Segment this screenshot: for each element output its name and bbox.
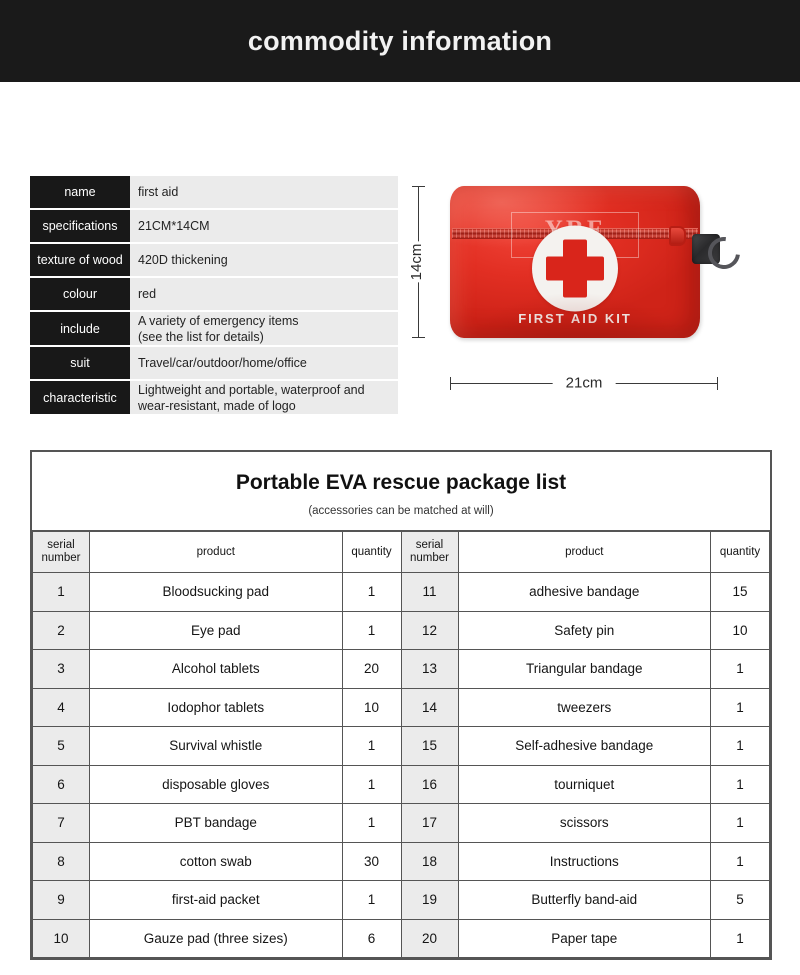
cell-serial-number: 1	[33, 573, 90, 612]
cell-serial-number: 9	[33, 881, 90, 920]
dimension-width-label: 21cm	[553, 375, 616, 392]
table-row: 4Iodophor tablets1014tweezers1	[33, 688, 770, 727]
cell-quantity: 6	[342, 919, 401, 958]
spec-row: suitTravel/car/outdoor/home/office	[30, 347, 398, 379]
cell-serial-number: 7	[33, 804, 90, 843]
spec-row: namefirst aid	[30, 176, 398, 208]
spec-row: texture of wood420D thickening	[30, 244, 398, 276]
cell-serial-number: 3	[33, 650, 90, 689]
dimension-height-label: 14cm	[405, 242, 428, 283]
cell-quantity: 1	[711, 765, 770, 804]
cell-serial-number: 20	[401, 919, 458, 958]
carabiner-clip-icon	[692, 234, 720, 264]
cell-quantity: 15	[711, 573, 770, 612]
table-row: 5Survival whistle115Self-adhesive bandag…	[33, 727, 770, 766]
cell-product: Eye pad	[90, 611, 343, 650]
spec-label: name	[30, 176, 130, 208]
zipper-pull-icon	[669, 226, 686, 246]
cell-serial-number: 5	[33, 727, 90, 766]
cell-product: Self-adhesive bandage	[458, 727, 711, 766]
header-serial-number-right: serial number	[401, 532, 458, 573]
cell-quantity: 1	[342, 765, 401, 804]
package-list-title: Portable EVA rescue package list	[32, 471, 770, 495]
spec-label: specifications	[30, 210, 130, 242]
header-quantity-right: quantity	[711, 532, 770, 573]
cell-product: Triangular bandage	[458, 650, 711, 689]
cell-product: disposable gloves	[90, 765, 343, 804]
page-title: commodity information	[248, 26, 552, 57]
cell-quantity: 1	[342, 611, 401, 650]
cell-serial-number: 17	[401, 804, 458, 843]
cell-serial-number: 4	[33, 688, 90, 727]
cell-product: Paper tape	[458, 919, 711, 958]
table-row: 7PBT bandage117scissors1	[33, 804, 770, 843]
medical-cross-icon	[532, 225, 618, 311]
package-list-subtitle: (accessories can be matched at will)	[32, 505, 770, 517]
cell-serial-number: 19	[401, 881, 458, 920]
cell-serial-number: 14	[401, 688, 458, 727]
cell-product: scissors	[458, 804, 711, 843]
cell-product: Butterfly band-aid	[458, 881, 711, 920]
specification-table: namefirst aidspecifications21CM*14CMtext…	[30, 176, 398, 416]
spec-label: texture of wood	[30, 244, 130, 276]
cell-quantity: 1	[342, 573, 401, 612]
spec-value: Travel/car/outdoor/home/office	[130, 347, 398, 379]
cell-serial-number: 15	[401, 727, 458, 766]
header-serial-number-left: serial number	[33, 532, 90, 573]
table-row: 10Gauze pad (three sizes)620Paper tape1	[33, 919, 770, 958]
table-row: 9first-aid packet119Butterfly band-aid5	[33, 881, 770, 920]
spec-row: specifications21CM*14CM	[30, 210, 398, 242]
cross-horizontal-bar	[546, 256, 604, 280]
header-product-left: product	[90, 532, 343, 573]
cell-serial-number: 8	[33, 842, 90, 881]
dimension-width: 21cm	[450, 375, 718, 391]
cell-serial-number: 12	[401, 611, 458, 650]
cell-serial-number: 16	[401, 765, 458, 804]
spec-value: 21CM*14CM	[130, 210, 398, 242]
cell-product: tweezers	[458, 688, 711, 727]
first-aid-pouch: YRF www.yrftextile.com FIRST AID KIT	[450, 186, 700, 338]
cell-product: adhesive bandage	[458, 573, 711, 612]
cell-product: Iodophor tablets	[90, 688, 343, 727]
cell-quantity: 1	[711, 804, 770, 843]
cell-product: Alcohol tablets	[90, 650, 343, 689]
spec-row: colourred	[30, 278, 398, 310]
cell-quantity: 5	[711, 881, 770, 920]
pouch-label: FIRST AID KIT	[450, 311, 700, 326]
package-list: Portable EVA rescue package list (access…	[30, 450, 772, 960]
header-banner: commodity information	[0, 0, 800, 82]
cell-serial-number: 13	[401, 650, 458, 689]
spec-value: A variety of emergency items (see the li…	[130, 312, 398, 345]
cell-quantity: 10	[711, 611, 770, 650]
table-row: 2Eye pad112Safety pin10	[33, 611, 770, 650]
cell-product: tourniquet	[458, 765, 711, 804]
table-row: 8cotton swab3018Instructions1	[33, 842, 770, 881]
package-items-table: serial number product quantity serial nu…	[32, 531, 770, 958]
cell-quantity: 1	[711, 688, 770, 727]
cell-serial-number: 6	[33, 765, 90, 804]
spec-value: Lightweight and portable, waterproof and…	[130, 381, 398, 414]
cell-quantity: 1	[342, 881, 401, 920]
cell-product: Bloodsucking pad	[90, 573, 343, 612]
cell-quantity: 30	[342, 842, 401, 881]
cell-product: PBT bandage	[90, 804, 343, 843]
cell-product: Survival whistle	[90, 727, 343, 766]
cell-quantity: 20	[342, 650, 401, 689]
spec-label: colour	[30, 278, 130, 310]
dimension-height: 14cm	[412, 186, 426, 338]
spec-value: first aid	[130, 176, 398, 208]
cell-product: cotton swab	[90, 842, 343, 881]
spec-value: red	[130, 278, 398, 310]
table-header-row: serial number product quantity serial nu…	[33, 532, 770, 573]
cell-quantity: 1	[711, 727, 770, 766]
spec-row: characteristicLightweight and portable, …	[30, 381, 398, 414]
cell-quantity: 1	[342, 727, 401, 766]
cell-serial-number: 10	[33, 919, 90, 958]
package-items-head: serial number product quantity serial nu…	[33, 532, 770, 573]
cell-quantity: 1	[711, 919, 770, 958]
cell-serial-number: 2	[33, 611, 90, 650]
package-list-header: Portable EVA rescue package list (access…	[32, 452, 770, 531]
cell-product: Gauze pad (three sizes)	[90, 919, 343, 958]
cell-quantity: 1	[342, 804, 401, 843]
cell-product: first-aid packet	[90, 881, 343, 920]
table-row: 6disposable gloves116tourniquet1	[33, 765, 770, 804]
spec-row: includeA variety of emergency items (see…	[30, 312, 398, 345]
header-product-right: product	[458, 532, 711, 573]
cell-serial-number: 18	[401, 842, 458, 881]
cell-quantity: 1	[711, 650, 770, 689]
spec-label: include	[30, 312, 130, 345]
package-items-body: 1Bloodsucking pad111adhesive bandage152E…	[33, 573, 770, 958]
header-quantity-left: quantity	[342, 532, 401, 573]
table-row: 1Bloodsucking pad111adhesive bandage15	[33, 573, 770, 612]
spec-value: 420D thickening	[130, 244, 398, 276]
cell-product: Safety pin	[458, 611, 711, 650]
spec-label: characteristic	[30, 381, 130, 414]
table-row: 3Alcohol tablets2013Triangular bandage1	[33, 650, 770, 689]
cell-serial-number: 11	[401, 573, 458, 612]
dimension-width-cap-right	[717, 377, 718, 390]
product-photo: 14cm YRF www.yrftextile.com FIRST AID KI…	[400, 160, 800, 420]
spec-label: suit	[30, 347, 130, 379]
cell-quantity: 10	[342, 688, 401, 727]
cell-quantity: 1	[711, 842, 770, 881]
cell-product: Instructions	[458, 842, 711, 881]
dimension-width-cap-left	[450, 377, 451, 390]
dimension-height-cap-bottom	[412, 337, 425, 338]
dimension-height-cap-top	[412, 186, 425, 187]
